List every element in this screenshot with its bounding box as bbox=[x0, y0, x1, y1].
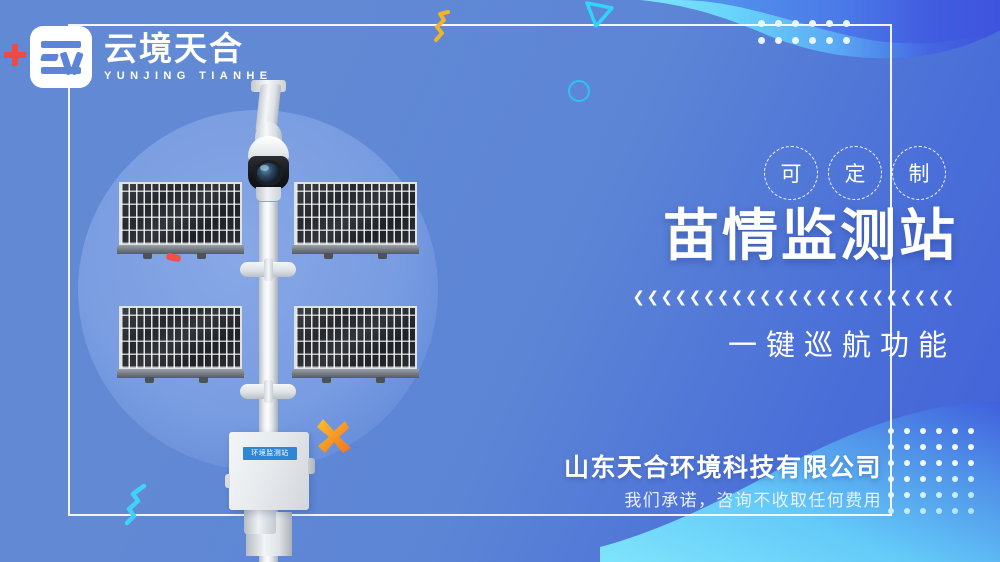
panel-hub-lower bbox=[240, 384, 296, 399]
circle-outline-icon bbox=[568, 80, 590, 102]
zigzag-icon-yellow bbox=[432, 10, 462, 42]
monitoring-station-illustration: 环境监测站 bbox=[118, 84, 418, 562]
badge-ke: 可 bbox=[764, 146, 818, 200]
solar-panel bbox=[294, 182, 417, 246]
page-title: 苗情监测站 bbox=[663, 208, 958, 264]
subtitle: 一键巡航功能 bbox=[728, 328, 956, 364]
brand-name-cn: 云境天合 bbox=[104, 32, 273, 65]
cabinet-side-port bbox=[308, 458, 315, 474]
chevron-divider: ❮❮❮❮❮❮❮❮❮❮❮❮❮❮❮❮❮❮❮❮❮❮❮ bbox=[632, 288, 956, 306]
feature-badges: 可 定 制 bbox=[764, 146, 946, 200]
company-promise: 我们承诺，咨询不收取任何费用 bbox=[624, 486, 882, 511]
plus-icon bbox=[4, 44, 26, 66]
badge-ding: 定 bbox=[828, 146, 882, 200]
badge-zhi: 制 bbox=[892, 146, 946, 200]
yunjing-logo-mark-icon bbox=[30, 26, 92, 88]
cabinet-neck bbox=[244, 508, 276, 534]
environment-cabinet: 环境监测站 bbox=[229, 432, 309, 510]
promo-banner: 云境天合 YUNJING TIANHE bbox=[0, 0, 1000, 562]
camera-foot bbox=[256, 187, 281, 201]
panel-hub-upper bbox=[240, 262, 296, 277]
dot-grid-bottom bbox=[888, 428, 984, 524]
dot-grid-top bbox=[758, 20, 860, 54]
camera-lens-icon bbox=[254, 160, 283, 186]
solar-panel bbox=[294, 306, 417, 370]
brand-logo: 云境天合 YUNJING TIANHE bbox=[30, 26, 273, 88]
brand-name-en: YUNJING TIANHE bbox=[104, 70, 273, 82]
cabinet-label: 环境监测站 bbox=[243, 447, 297, 460]
solar-panel bbox=[119, 306, 242, 370]
company-name: 山东天合环境科技有限公司 bbox=[564, 448, 882, 484]
panel-clip bbox=[165, 253, 181, 263]
solar-panel bbox=[119, 182, 242, 246]
triangle-outline-icon bbox=[582, 0, 616, 30]
cabinet-latch bbox=[225, 474, 230, 488]
